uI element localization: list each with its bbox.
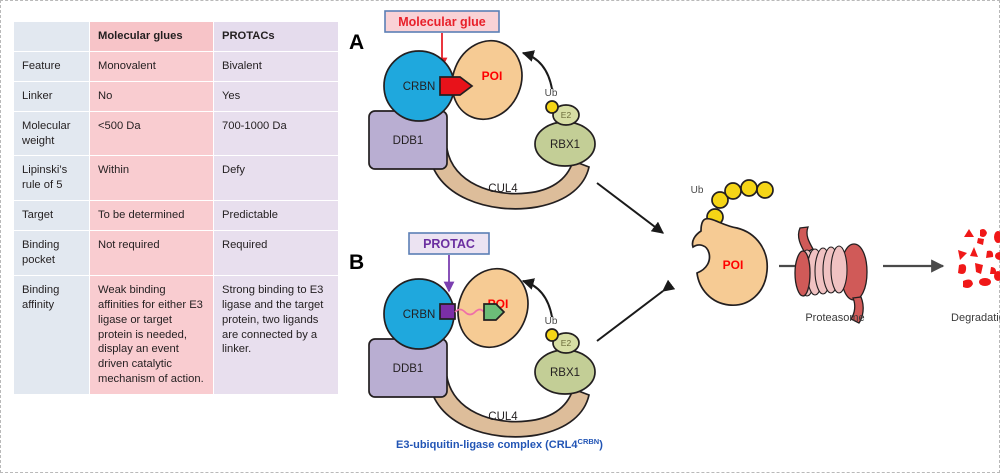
row-value-protacs: Strong binding to E3 ligase and the targ… [214,275,339,394]
table-row: Lipinski’s rule of 5 Within Defy [14,156,339,201]
ddb1-label: DDB1 [393,363,424,375]
central-poi-label: POI [723,258,744,272]
panel-b-letter: B [349,251,364,274]
ubiquitin-circle [546,329,558,341]
table-row: Feature Monovalent Bivalent [14,51,339,81]
rbx1-label: RBX1 [550,367,580,379]
row-value-molecular-glues: Not required [90,231,214,276]
row-value-protacs: Predictable [214,201,339,231]
row-label: Molecular weight [14,111,90,156]
row-value-molecular-glues: Within [90,156,214,201]
row-value-protacs: Required [214,231,339,276]
table-row: Binding pocket Not required Required [14,231,339,276]
panel-b-to-poi-arrow [597,291,663,341]
table-row: Linker No Yes [14,81,339,111]
e2-label: E2 [561,110,572,120]
row-value-molecular-glues: No [90,81,214,111]
row-value-protacs: 700-1000 Da [214,111,339,156]
mechanism-diagram: A Molecular glue CUL4 DDB1 RBX1 E2 Ub PO… [341,1,1000,474]
panel-a-letter: A [349,31,364,54]
row-value-molecular-glues: Weak binding affinities for either E3 li… [90,275,214,394]
e2-label: E2 [561,338,572,348]
table-row: Binding affinity Weak binding affinities… [14,275,339,394]
crbn-label: CRBN [403,309,436,321]
ubiquitin-label: Ub [545,88,558,99]
row-value-protacs: Defy [214,156,339,201]
panel-a: A Molecular glue CUL4 DDB1 RBX1 E2 Ub PO… [349,11,663,233]
table-header-blank [14,22,90,52]
rbx1-label: RBX1 [550,139,580,151]
complex-caption: E3-ubiquitin-ligase complex (CRL4CRBN) [396,437,603,451]
ubiquitin-chain-node [725,183,741,199]
cul4-label: CUL4 [488,183,518,195]
degradation-fragments [958,229,1000,288]
row-label: Linker [14,81,90,111]
ubiquitin-chain-node [757,182,773,198]
comparison-table: Molecular glues PROTACs Feature Monovale… [13,21,339,395]
table-header-molecular-glues: Molecular glues [90,22,214,52]
table-header-protacs: PROTACs [214,22,339,52]
row-value-molecular-glues: Monovalent [90,51,214,81]
panel-a-to-poi-arrow [597,183,663,233]
proteasome-icon [795,227,867,323]
table-row: Target To be determined Predictable [14,201,339,231]
protac-e3-ligand-square [440,304,455,319]
ubiquitin-chain-node [741,180,757,196]
row-label: Lipinski’s rule of 5 [14,156,90,201]
row-value-molecular-glues: To be determined [90,201,214,231]
row-label: Target [14,201,90,231]
row-value-protacs: Bivalent [214,51,339,81]
crbn-label: CRBN [403,81,436,93]
table-header-row: Molecular glues PROTACs [14,22,339,52]
poi-label: POI [482,69,503,83]
degradation-label: Degradation [951,312,1000,324]
row-label: Feature [14,51,90,81]
molecular-glue-callout-label: Molecular glue [398,15,486,29]
ubiquitin-circle [546,101,558,113]
row-label: Binding affinity [14,275,90,394]
proteasome-label: Proteasome [805,312,864,324]
degradation-pathway: Ub POI Proteasome [691,180,1000,324]
cul4-label: CUL4 [488,411,518,423]
ubiquitin-chain-label: Ub [691,185,704,196]
ubiquitin-transfer-arrow [523,53,552,89]
protac-callout-label: PROTAC [423,237,475,251]
row-value-molecular-glues: <500 Da [90,111,214,156]
table-row: Molecular weight <500 Da 700-1000 Da [14,111,339,156]
ubiquitin-label: Ub [545,316,558,327]
ddb1-label: DDB1 [393,135,424,147]
panel-b: B PROTAC CUL4 DDB1 RBX1 E2 Ub POI CRBN [349,233,663,451]
figure-canvas: Molecular glues PROTACs Feature Monovale… [0,0,1000,473]
row-label: Binding pocket [14,231,90,276]
row-value-protacs: Yes [214,81,339,111]
